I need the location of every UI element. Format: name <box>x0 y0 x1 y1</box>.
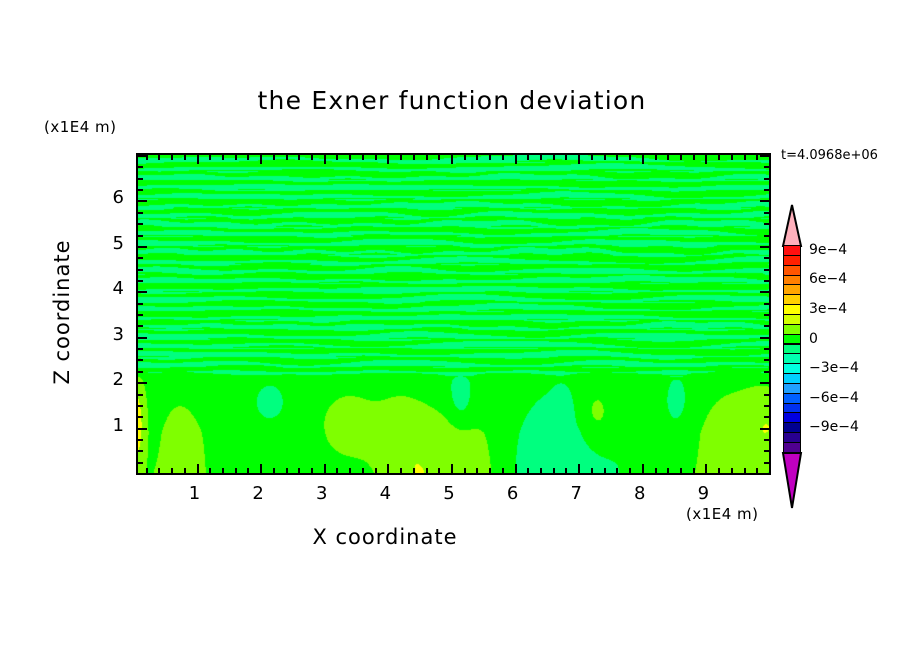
y-axis-tick-right <box>764 280 769 282</box>
x-axis-tick-top <box>705 155 707 164</box>
contour-plot-area <box>136 153 771 475</box>
x-axis-tick-top <box>235 155 237 160</box>
x-axis-tick-top <box>298 155 300 160</box>
x-axis-tick-top <box>718 155 720 160</box>
x-axis-tick <box>756 468 758 473</box>
x-axis-tick-top <box>362 155 364 160</box>
x-tick-label: 5 <box>429 483 469 504</box>
y-axis-tick-right <box>764 269 769 271</box>
y-axis-tick <box>138 416 143 418</box>
colorbar[interactable]: 9e−46e−43e−40−3e−4−6e−4−9e−4 <box>779 203 805 513</box>
x-axis-tick-top <box>565 155 567 160</box>
x-tick-label: 4 <box>365 483 405 504</box>
y-axis-tick <box>138 223 143 225</box>
y-axis-tick-right <box>764 394 769 396</box>
x-axis-tick-top <box>349 155 351 160</box>
x-axis-tick <box>247 468 249 473</box>
y-axis-tick <box>138 348 143 350</box>
x-axis-tick-top <box>426 155 428 160</box>
x-axis-tick <box>527 468 529 473</box>
x-axis-tick <box>336 468 338 473</box>
x-axis-tick <box>438 468 440 473</box>
x-axis-tick <box>260 464 262 473</box>
y-axis-tick-right <box>764 462 769 464</box>
y-axis-tick-right <box>764 325 769 327</box>
x-axis-tick <box>718 468 720 473</box>
y-tick-label: 6 <box>84 187 124 208</box>
y-axis-tick-right <box>764 439 769 441</box>
x-axis-tick-top <box>591 155 593 160</box>
y-tick-label: 5 <box>84 233 124 254</box>
y-axis-tick-right <box>764 303 769 305</box>
x-axis-tick-top <box>489 155 491 160</box>
x-axis-tick <box>744 468 746 473</box>
x-axis-tick-top <box>311 155 313 160</box>
y-axis-tick-right <box>764 416 769 418</box>
x-axis-tick-top <box>693 155 695 160</box>
colorbar-tick-label: −3e−4 <box>809 360 859 376</box>
x-axis-tick <box>146 468 148 473</box>
y-axis-tick <box>138 178 143 180</box>
y-axis-tick <box>138 314 143 316</box>
x-axis-tick-top <box>578 155 580 164</box>
x-axis-tick-top <box>387 155 389 164</box>
x-axis-tick <box>489 468 491 473</box>
x-axis-tick-top <box>451 155 453 164</box>
y-axis-tick-right <box>764 314 769 316</box>
x-axis-tick <box>667 468 669 473</box>
colorbar-over-arrow-icon <box>779 203 805 247</box>
x-axis-tick <box>642 464 644 473</box>
x-axis-tick <box>197 464 199 473</box>
y-tick-label: 3 <box>84 324 124 345</box>
y-axis-tick <box>138 325 143 327</box>
x-axis-tick-top <box>324 155 326 164</box>
x-axis-tick-top <box>502 155 504 160</box>
x-axis-tick-top <box>553 155 555 160</box>
x-axis-tick <box>655 468 657 473</box>
x-axis-tick <box>158 468 160 473</box>
x-axis-tick-top <box>527 155 529 160</box>
x-axis-tick <box>451 464 453 473</box>
colorbar-tick-label: 6e−4 <box>809 271 847 287</box>
x-axis-tick-top <box>375 155 377 160</box>
x-axis-tick-top <box>476 155 478 160</box>
x-axis-tick-top <box>247 155 249 160</box>
x-axis-tick-top <box>171 155 173 160</box>
y-tick-label: 2 <box>84 369 124 390</box>
y-axis-tick <box>138 155 147 157</box>
x-axis-tick <box>209 468 211 473</box>
x-axis-tick-top <box>197 155 199 164</box>
y-axis-tick-right <box>760 291 769 293</box>
x-axis-tick <box>400 468 402 473</box>
y-axis-tick-right <box>764 166 769 168</box>
x-axis-tick <box>680 468 682 473</box>
y-axis-tick <box>138 428 147 430</box>
y-axis-tick-right <box>760 246 769 248</box>
x-axis-tick <box>413 468 415 473</box>
x-axis-tick <box>629 468 631 473</box>
y-axis-tick <box>138 212 143 214</box>
y-axis-tick <box>138 246 147 248</box>
y-axis-tick-right <box>760 382 769 384</box>
x-tick-label: 7 <box>556 483 596 504</box>
x-axis-tick <box>476 468 478 473</box>
x-axis-tick <box>553 468 555 473</box>
x-axis-tick-top <box>260 155 262 164</box>
x-axis-tick-top <box>184 155 186 160</box>
y-axis-tick-right <box>764 359 769 361</box>
y-axis-tick <box>138 359 143 361</box>
y-axis-tick-right <box>764 450 769 452</box>
x-axis-tick <box>171 468 173 473</box>
page-title: the Exner function deviation <box>0 86 904 115</box>
x-axis-tick <box>273 468 275 473</box>
y-tick-label: 1 <box>84 415 124 436</box>
timestamp-label: t=4.0968e+06 <box>781 148 878 163</box>
x-axis-tick <box>502 468 504 473</box>
x-axis-tick <box>464 468 466 473</box>
x-axis-tick-top <box>336 155 338 160</box>
y-axis-tick-right <box>760 200 769 202</box>
x-axis-tick <box>731 468 733 473</box>
x-axis-tick <box>565 468 567 473</box>
x-axis-tick-top <box>222 155 224 160</box>
x-tick-label: 9 <box>683 483 723 504</box>
x-axis-tick <box>375 468 377 473</box>
y-axis-tick <box>138 280 143 282</box>
colorbar-tick-label: −6e−4 <box>809 390 859 406</box>
y-axis-tick-right <box>764 235 769 237</box>
contour-field-canvas <box>138 155 769 473</box>
y-axis-tick <box>138 269 143 271</box>
x-axis-tick <box>235 468 237 473</box>
x-axis-tick-top <box>680 155 682 160</box>
x-axis-tick <box>349 468 351 473</box>
y-axis-tick <box>138 303 143 305</box>
x-axis-tick-top <box>400 155 402 160</box>
y-axis-tick-right <box>764 405 769 407</box>
x-axis-tick-top <box>438 155 440 160</box>
x-axis-tick <box>426 468 428 473</box>
y-axis-tick <box>138 166 143 168</box>
colorbar-tick-label: −9e−4 <box>809 419 859 435</box>
x-axis-tick <box>387 464 389 473</box>
x-axis-tick <box>515 464 517 473</box>
x-axis-tick-top <box>629 155 631 160</box>
x-axis-tick <box>324 464 326 473</box>
y-axis-tick-right <box>764 257 769 259</box>
y-axis-tick-right <box>764 223 769 225</box>
x-axis-tick <box>311 468 313 473</box>
x-tick-label: 2 <box>238 483 278 504</box>
y-axis-tick <box>138 257 143 259</box>
y-axis-tick <box>138 382 147 384</box>
x-axis-tick-top <box>655 155 657 160</box>
x-axis-tick-top <box>667 155 669 160</box>
x-axis-tick-top <box>273 155 275 160</box>
y-axis-tick-right <box>764 189 769 191</box>
x-axis-tick <box>298 468 300 473</box>
x-axis-tick <box>540 468 542 473</box>
x-axis-tick <box>591 468 593 473</box>
x-axis-tick <box>578 464 580 473</box>
y-axis-tick <box>138 405 143 407</box>
x-axis-tick-top <box>158 155 160 160</box>
x-axis-tick <box>362 468 364 473</box>
x-axis-tick <box>616 468 618 473</box>
x-tick-label: 6 <box>493 483 533 504</box>
y-axis-tick <box>138 189 143 191</box>
y-axis-tick-right <box>760 428 769 430</box>
x-axis-title: X coordinate <box>0 525 770 549</box>
y-axis-tick <box>138 337 147 339</box>
y-tick-label: 4 <box>84 278 124 299</box>
x-axis-tick-top <box>616 155 618 160</box>
colorbar-tick-label: 3e−4 <box>809 301 847 317</box>
x-axis-tick-top <box>209 155 211 160</box>
x-axis-tick-top <box>413 155 415 160</box>
x-axis-tick <box>184 468 186 473</box>
x-axis-tick <box>705 464 707 473</box>
x-axis-tick-top <box>540 155 542 160</box>
x-axis-tick-top <box>604 155 606 160</box>
x-tick-label: 8 <box>620 483 660 504</box>
y-axis-tick <box>138 462 143 464</box>
y-axis-tick <box>138 235 143 237</box>
y-axis-tick <box>138 291 147 293</box>
y-axis-tick-right <box>764 212 769 214</box>
x-axis-tick-top <box>515 155 517 164</box>
x-axis-tick-top <box>642 155 644 164</box>
y-axis-tick <box>138 439 143 441</box>
x-axis-tick-top <box>756 155 758 160</box>
x-tick-label: 3 <box>302 483 342 504</box>
colorbar-tick-label: 0 <box>809 331 818 347</box>
y-axis-tick-right <box>760 155 769 157</box>
x-axis-tick-top <box>744 155 746 160</box>
x-axis-tick <box>604 468 606 473</box>
x-axis-tick-top <box>286 155 288 160</box>
x-axis-tick <box>693 468 695 473</box>
y-axis-tick-right <box>760 337 769 339</box>
y-axis-tick-right <box>764 178 769 180</box>
colorbar-under-arrow-icon <box>779 452 805 510</box>
y-axis-tick <box>138 200 147 202</box>
colorbar-tick-label: 9e−4 <box>809 242 847 258</box>
x-axis-tick-top <box>731 155 733 160</box>
y-axis-tick-right <box>764 371 769 373</box>
y-axis-title: Z coordinate <box>50 212 74 412</box>
x-axis-tick <box>286 468 288 473</box>
x-axis-tick <box>222 468 224 473</box>
x-axis-unit-label: (x1E4 m) <box>686 505 759 523</box>
y-axis-tick <box>138 450 143 452</box>
y-axis-tick <box>138 394 143 396</box>
y-axis-tick <box>138 371 143 373</box>
x-tick-label: 1 <box>175 483 215 504</box>
x-axis-tick-top <box>464 155 466 160</box>
y-axis-tick-right <box>764 348 769 350</box>
y-axis-unit-label: (x1E4 m) <box>44 118 117 136</box>
